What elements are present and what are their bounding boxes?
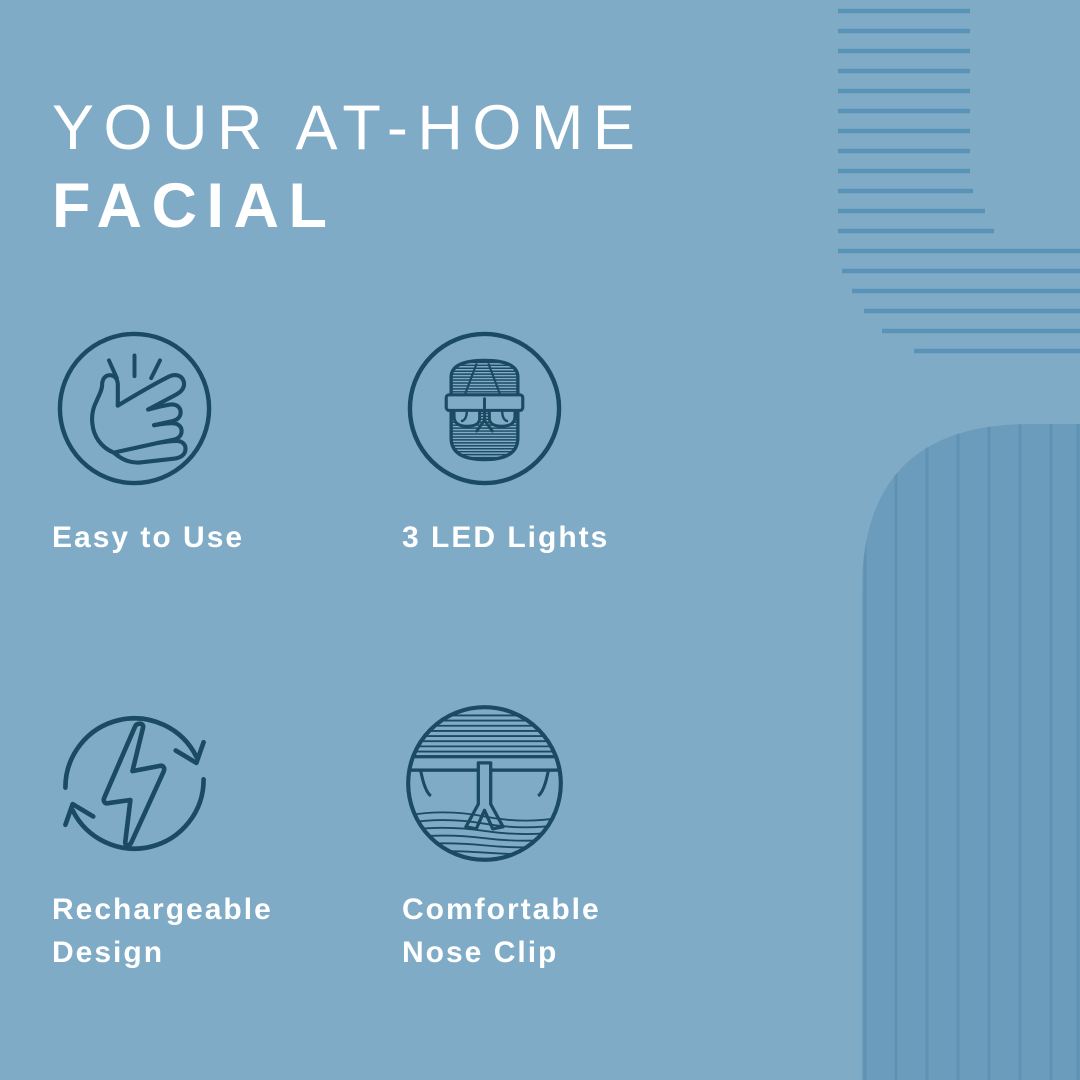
feature-label-rechargeable: Rechargeable Design	[52, 888, 402, 974]
headline: YOUR AT-HOME FACIAL	[52, 90, 752, 246]
headline-line-1: YOUR AT-HOME	[52, 90, 752, 166]
feature-grid: Easy to Use	[52, 330, 752, 974]
led-face-mask-icon	[406, 330, 563, 487]
snapping-fingers-icon	[56, 330, 213, 487]
feature-item-easy-to-use[interactable]: Easy to Use	[52, 330, 402, 559]
feature-item-rechargeable[interactable]: Rechargeable Design	[52, 701, 402, 974]
headline-line-2: FACIAL	[52, 166, 752, 246]
promo-graphic-canvas: YOUR AT-HOME FACIAL	[0, 0, 1080, 1080]
feature-item-led-lights[interactable]: 3 LED Lights	[402, 330, 752, 559]
feature-label-nose-clip: Comfortable Nose Clip	[402, 888, 752, 974]
nose-clip-icon	[402, 701, 567, 866]
corner-lines-decoration	[820, 0, 1080, 370]
feature-row-2: Rechargeable Design	[52, 701, 752, 974]
striped-arch-decoration	[820, 390, 1080, 1080]
feature-label-led-lights: 3 LED Lights	[402, 516, 752, 559]
feature-item-nose-clip[interactable]: Comfortable Nose Clip	[402, 701, 752, 974]
rechargeable-battery-icon	[52, 701, 217, 866]
feature-label-easy-to-use: Easy to Use	[52, 516, 402, 559]
feature-row-1: Easy to Use	[52, 330, 752, 559]
